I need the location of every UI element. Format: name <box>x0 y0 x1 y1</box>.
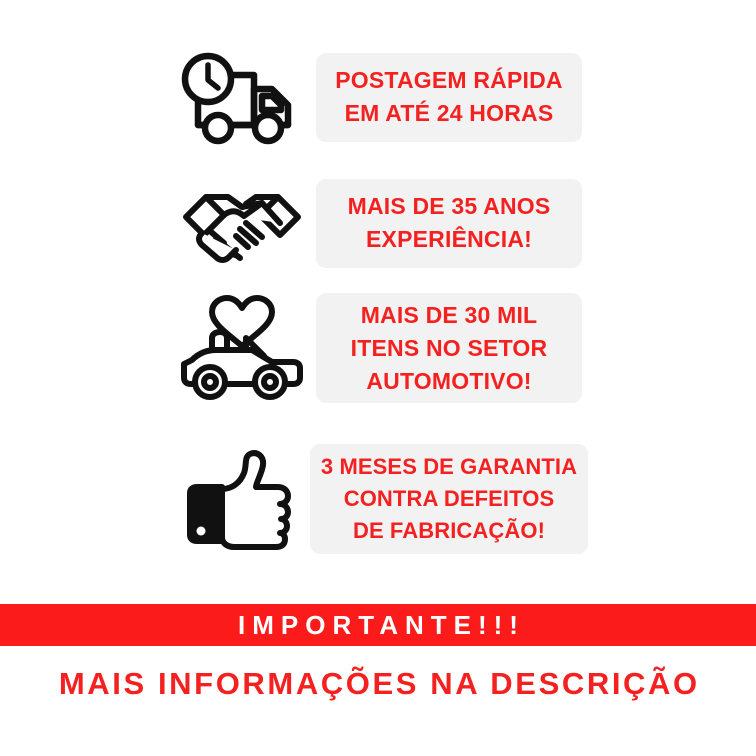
feature-text-line: MAIS DE 35 ANOS <box>348 190 551 223</box>
important-banner: IMPORTANTE!!! <box>0 604 756 646</box>
feature-text-line: AUTOMOTIVO! <box>366 365 531 398</box>
promo-banner-page: POSTAGEM RÁPIDA EM ATÉ 24 HORAS <box>0 0 756 756</box>
delivery-truck-clock-icon <box>168 42 316 152</box>
feature-text-line: EXPERIÊNCIA! <box>366 223 532 256</box>
description-label: MAIS INFORMAÇÕES NA DESCRIÇÃO <box>56 666 699 702</box>
feature-text-line: CONTRA DEFEITOS <box>344 483 555 515</box>
feature-text-box-experience: MAIS DE 35 ANOS EXPERIÊNCIA! <box>316 179 582 268</box>
thumbs-up-icon <box>168 440 316 558</box>
feature-text-line: MAIS DE 30 MIL <box>361 299 538 332</box>
feature-row-catalog: MAIS DE 30 MIL ITENS NO SETOR AUTOMOTIVO… <box>168 293 582 403</box>
feature-text-box-catalog: MAIS DE 30 MIL ITENS NO SETOR AUTOMOTIVO… <box>316 293 582 403</box>
feature-text-line: DE FABRICAÇÃO! <box>353 515 545 547</box>
car-heart-icon <box>168 293 316 403</box>
feature-row-shipping: POSTAGEM RÁPIDA EM ATÉ 24 HORAS <box>168 42 582 152</box>
feature-text-line: 3 MESES DE GARANTIA <box>321 451 577 483</box>
handshake-icon <box>168 168 316 278</box>
description-line: MAIS INFORMAÇÕES NA DESCRIÇÃO <box>0 660 756 708</box>
feature-row-experience: MAIS DE 35 ANOS EXPERIÊNCIA! <box>168 168 582 278</box>
feature-text-line: POSTAGEM RÁPIDA <box>335 64 562 97</box>
feature-text-box-shipping: POSTAGEM RÁPIDA EM ATÉ 24 HORAS <box>316 53 582 142</box>
feature-row-warranty: 3 MESES DE GARANTIA CONTRA DEFEITOS DE F… <box>168 440 588 558</box>
important-banner-label: IMPORTANTE!!! <box>231 610 525 641</box>
feature-text-line: ITENS NO SETOR <box>351 332 548 365</box>
feature-text-box-warranty: 3 MESES DE GARANTIA CONTRA DEFEITOS DE F… <box>310 444 588 554</box>
feature-text-line: EM ATÉ 24 HORAS <box>345 97 554 130</box>
